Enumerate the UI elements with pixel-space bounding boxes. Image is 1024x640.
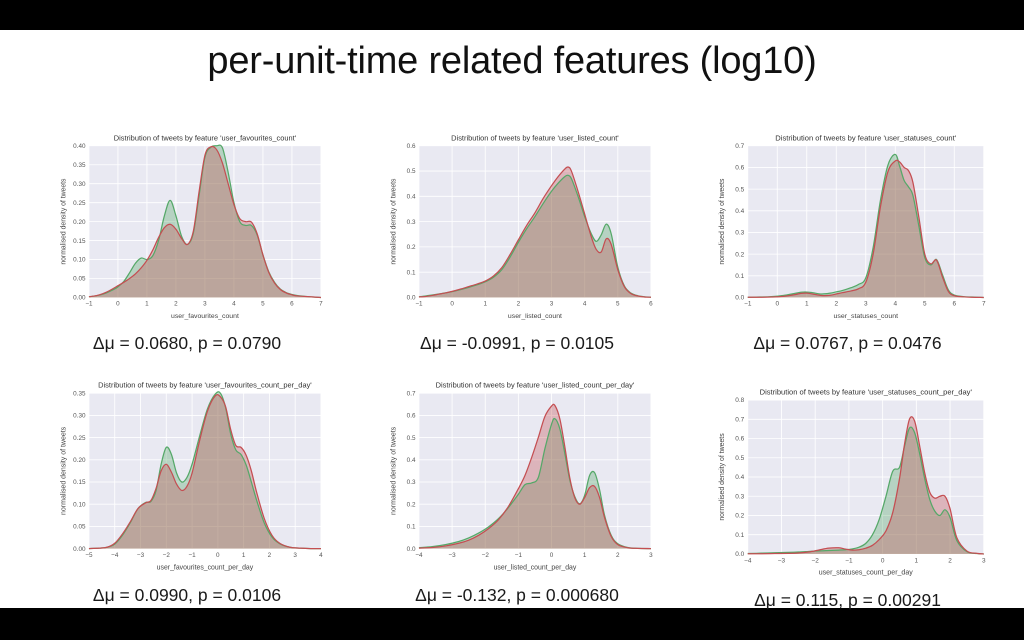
y-tick-label: 0.3 — [407, 219, 416, 226]
kde-plot: 0.000.050.100.150.200.250.300.350.40−101… — [42, 128, 332, 333]
y-tick-label: 0.15 — [73, 238, 86, 245]
y-tick-label: 0.5 — [735, 186, 744, 193]
x-axis-label: user_favourites_count — [171, 313, 239, 320]
x-tick-label: 6 — [952, 301, 956, 308]
x-tick-label: −3 — [778, 557, 786, 564]
x-tick-label: 2 — [268, 552, 272, 559]
x-tick-label: −5 — [85, 552, 93, 559]
x-tick-label: −3 — [137, 552, 145, 559]
x-tick-label: 3 — [649, 552, 653, 559]
x-tick-label: 3 — [293, 552, 297, 559]
x-tick-label: −3 — [448, 552, 456, 559]
y-axis-label: normalised density of tweets — [719, 433, 726, 521]
y-tick-label: 0.20 — [73, 457, 86, 464]
x-axis-label: user_listed_count_per_day — [494, 565, 577, 572]
x-tick-label: 1 — [242, 552, 246, 559]
x-tick-label: 4 — [319, 552, 323, 559]
x-tick-label: −4 — [111, 552, 119, 559]
y-tick-label: 0.30 — [73, 181, 86, 188]
panel-grid: 0.000.050.100.150.200.250.300.350.40−101… — [0, 90, 1024, 608]
y-tick-label: 0.6 — [735, 165, 744, 172]
x-tick-label: −1 — [85, 301, 93, 308]
y-tick-label: 0.3 — [735, 493, 744, 500]
y-tick-label: 0.2 — [407, 501, 416, 508]
y-tick-label: 0.3 — [407, 479, 416, 486]
panel-user_listed_count_per_day: 0.00.10.20.30.40.50.60.7−4−3−2−10123Dist… — [372, 375, 662, 585]
x-tick-label: 1 — [915, 557, 919, 564]
x-tick-label: 7 — [982, 301, 986, 308]
y-tick-label: 0.00 — [73, 546, 86, 553]
x-tick-label: 1 — [805, 301, 809, 308]
kde-plot: 0.00.10.20.30.40.50.6−10123456Distributi… — [372, 128, 662, 333]
chart-title: Distribution of tweets by feature 'user_… — [98, 381, 312, 390]
chart-title: Distribution of tweets by feature 'user_… — [436, 381, 635, 390]
y-tick-label: 0.05 — [73, 276, 86, 283]
y-tick-label: 0.30 — [73, 413, 86, 420]
y-tick-label: 0.25 — [73, 435, 86, 442]
chart-title: Distribution of tweets by feature 'user_… — [114, 133, 297, 142]
x-tick-label: 0 — [450, 301, 454, 308]
chart-title: Distribution of tweets by feature 'user_… — [775, 133, 956, 142]
x-tick-label: 0 — [550, 552, 554, 559]
x-tick-label: 4 — [893, 301, 897, 308]
panel-user_statuses_count: 0.00.10.20.30.40.50.60.7−101234567Distri… — [700, 128, 995, 333]
x-tick-label: −1 — [188, 552, 196, 559]
x-tick-label: 2 — [174, 301, 178, 308]
chart-title: Distribution of tweets by feature 'user_… — [451, 133, 619, 142]
panel-user_favourites_count: 0.000.050.100.150.200.250.300.350.40−101… — [42, 128, 332, 333]
x-tick-label: 3 — [550, 301, 554, 308]
x-tick-label: 0 — [881, 557, 885, 564]
x-tick-label: 1 — [145, 301, 149, 308]
kde-plot: 0.00.10.20.30.40.50.60.7−101234567Distri… — [700, 128, 995, 333]
x-axis-label: user_statuses_count — [833, 313, 898, 320]
x-tick-label: −4 — [415, 552, 423, 559]
y-tick-label: 0.5 — [407, 435, 416, 442]
x-tick-label: −1 — [744, 301, 752, 308]
y-axis-label: normalised density of tweets — [61, 426, 68, 515]
x-tick-label: 2 — [834, 301, 838, 308]
y-tick-label: 0.15 — [73, 479, 86, 486]
kde-plot: 0.00.10.20.30.40.50.60.7−4−3−2−10123Dist… — [372, 375, 662, 585]
x-tick-label: 6 — [649, 301, 653, 308]
x-tick-label: −1 — [845, 557, 853, 564]
y-tick-label: 0.5 — [735, 455, 744, 462]
y-axis-label: normalised density of tweets — [719, 178, 726, 264]
kde-plot: 0.00.10.20.30.40.50.60.70.8−4−3−2−10123D… — [700, 382, 995, 590]
y-tick-label: 0.05 — [73, 524, 86, 531]
y-tick-label: 0.4 — [735, 474, 744, 481]
y-tick-label: 0.7 — [407, 390, 416, 397]
y-tick-label: 0.2 — [735, 251, 744, 258]
x-tick-label: −2 — [163, 552, 171, 559]
x-tick-label: −1 — [515, 552, 523, 559]
x-axis-label: user_favourites_count_per_day — [157, 565, 254, 572]
y-axis-label: normalised density of tweets — [391, 426, 398, 515]
x-tick-label: −2 — [482, 552, 490, 559]
y-tick-label: 0.4 — [407, 194, 416, 201]
x-tick-label: 0 — [216, 552, 220, 559]
y-axis-label: normalised density of tweets — [60, 178, 67, 265]
caption-user_favourites_count: Δμ = 0.0680, p = 0.0790 — [22, 333, 352, 354]
y-tick-label: 0.2 — [735, 513, 744, 520]
x-tick-label: 3 — [982, 557, 986, 564]
x-tick-label: 5 — [261, 301, 265, 308]
x-tick-label: 2 — [517, 301, 521, 308]
y-tick-label: 0.35 — [73, 162, 86, 169]
caption-user_listed_count: Δμ = -0.0991, p = 0.0105 — [352, 333, 682, 354]
y-tick-label: 0.7 — [735, 143, 744, 150]
y-tick-label: 0.20 — [73, 219, 86, 226]
y-axis-label: normalised density of tweets — [390, 178, 397, 265]
panel-user_favourites_count_per_day: 0.000.050.100.150.200.250.300.35−5−4−3−2… — [42, 375, 332, 585]
slide-body: per-unit-time related features (log10) 0… — [0, 30, 1024, 608]
x-tick-label: 5 — [616, 301, 620, 308]
x-tick-label: 5 — [923, 301, 927, 308]
x-tick-label: −1 — [415, 301, 423, 308]
y-tick-label: 0.5 — [407, 168, 416, 175]
y-tick-label: 0.4 — [735, 208, 744, 215]
x-tick-label: 7 — [319, 301, 323, 308]
x-tick-label: 1 — [583, 552, 587, 559]
y-tick-label: 0.10 — [73, 257, 86, 264]
y-tick-label: 0.6 — [735, 436, 744, 443]
panel-user_statuses_count_per_day: 0.00.10.20.30.40.50.60.70.8−4−3−2−10123D… — [700, 382, 995, 590]
x-tick-label: 6 — [290, 301, 294, 308]
y-tick-label: 0.40 — [73, 143, 86, 150]
x-tick-label: 4 — [583, 301, 587, 308]
x-tick-label: −4 — [744, 557, 752, 564]
chart-title: Distribution of tweets by feature 'user_… — [760, 388, 973, 397]
y-tick-label: 0.1 — [407, 269, 416, 276]
x-tick-label: 2 — [616, 552, 620, 559]
x-tick-label: 3 — [203, 301, 207, 308]
caption-user_statuses_count: Δμ = 0.0767, p = 0.0476 — [680, 333, 1015, 354]
page-title: per-unit-time related features (log10) — [0, 40, 1024, 83]
y-tick-label: 0.2 — [407, 244, 416, 251]
x-tick-label: 2 — [948, 557, 952, 564]
y-tick-label: 0.1 — [735, 532, 744, 539]
x-tick-label: 1 — [483, 301, 487, 308]
kde-plot: 0.000.050.100.150.200.250.300.35−5−4−3−2… — [42, 375, 332, 585]
y-tick-label: 0.7 — [735, 417, 744, 424]
caption-user_listed_count_per_day: Δμ = -0.132, p = 0.000680 — [352, 585, 682, 606]
y-tick-label: 0.6 — [407, 413, 416, 420]
y-tick-label: 0.6 — [407, 143, 416, 150]
x-tick-label: 0 — [116, 301, 120, 308]
x-tick-label: 0 — [775, 301, 779, 308]
caption-user_statuses_count_per_day: Δμ = 0.115, p = 0.00291 — [680, 590, 1015, 611]
x-tick-label: 3 — [864, 301, 868, 308]
y-tick-label: 0.1 — [735, 273, 744, 280]
y-tick-label: 0.1 — [407, 524, 416, 531]
y-tick-label: 0.10 — [73, 501, 86, 508]
x-tick-label: 4 — [232, 301, 236, 308]
y-tick-label: 0.3 — [735, 230, 744, 237]
y-tick-label: 0.4 — [407, 457, 416, 464]
y-tick-label: 0.25 — [73, 200, 86, 207]
y-tick-label: 0.8 — [735, 397, 744, 404]
x-tick-label: −2 — [812, 557, 820, 564]
x-axis-label: user_statuses_count_per_day — [819, 570, 913, 577]
slide-root: per-unit-time related features (log10) 0… — [0, 0, 1024, 640]
panel-user_listed_count: 0.00.10.20.30.40.50.6−10123456Distributi… — [372, 128, 662, 333]
y-tick-label: 0.00 — [73, 295, 86, 302]
x-axis-label: user_listed_count — [508, 313, 562, 320]
caption-user_favourites_count_per_day: Δμ = 0.0990, p = 0.0106 — [22, 585, 352, 606]
y-tick-label: 0.35 — [73, 390, 86, 397]
